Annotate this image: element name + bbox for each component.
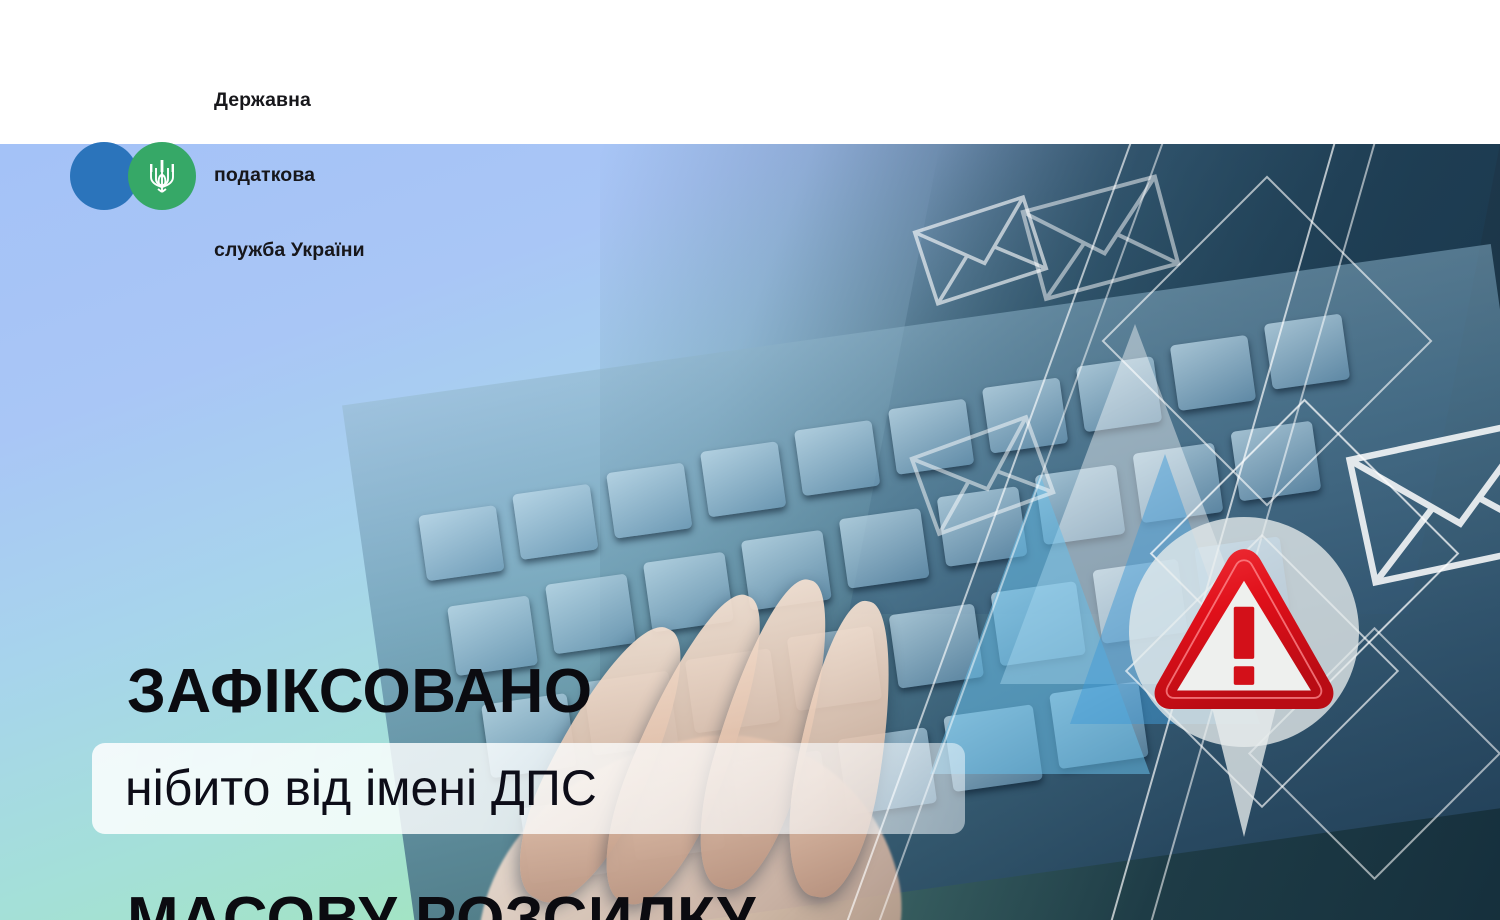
envelope-icon — [902, 394, 1062, 554]
subtitle-text: нібито від імені ДПС — [125, 760, 597, 817]
headline-line-1: ЗАФІКСОВАНО — [127, 654, 819, 730]
organization-logo[interactable]: Державна податкова служба України — [70, 38, 365, 313]
organization-name: Державна податкова служба України — [214, 38, 365, 313]
logo-text-line-2: податкова — [214, 163, 365, 188]
logo-text-line-3: служба України — [214, 238, 365, 263]
site-header: Державна податкова служба України — [0, 0, 1500, 144]
warning-triangle-icon — [1151, 545, 1337, 715]
subtitle-bar: нібито від імені ДПС — [92, 743, 965, 834]
logo-green-circle-icon — [128, 142, 196, 210]
logo-text-line-1: Державна — [214, 88, 365, 113]
headline-line-2: МАСОВУ РОЗСИЛКУ — [127, 882, 819, 920]
banner-image: Державна податкова служба України — [0, 0, 1500, 920]
ukraine-trident-icon — [145, 156, 179, 196]
page-title: ЗАФІКСОВАНО МАСОВУ РОЗСИЛКУ ФІШИНГОВИХ Л… — [127, 502, 819, 920]
envelope-icon — [1010, 146, 1190, 326]
map-pin-icon — [1129, 517, 1359, 837]
